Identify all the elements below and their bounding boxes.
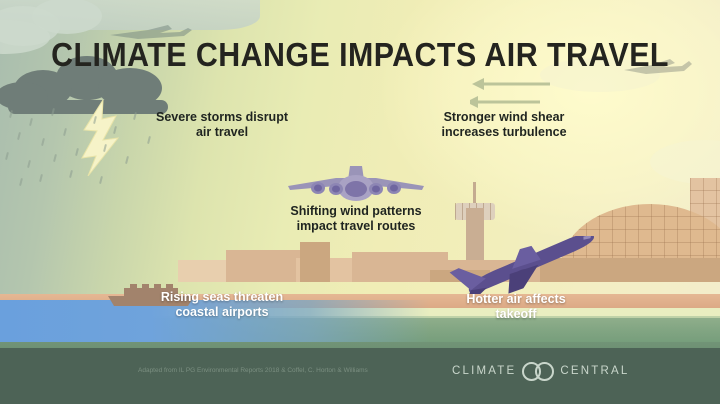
footer-bar: Adapted from IL PG Environmental Reports… [0,348,720,404]
logo-text-right: CENTRAL [560,365,629,377]
infographic-canvas: CLIMATE CHANGE IMPACTS AIR TRAVEL [0,0,720,404]
building [226,250,306,282]
page-title: CLIMATE CHANGE IMPACTS AIR TRAVEL [29,36,691,74]
logo-text-left: CLIMATE [452,365,516,377]
label-wind-shear: Stronger wind shear increases turbulence [418,110,590,140]
building [178,260,232,282]
label-severe-storms: Severe storms disrupt air travel [138,110,306,140]
wind-arrow-icon [470,74,590,110]
climate-central-rings-icon [522,362,554,381]
label-rising-seas: Rising seas threaten coastal airports [136,290,308,320]
label-hotter-air: Hotter air affects takeoff [432,292,600,322]
credit-text: Adapted from IL PG Environmental Reports… [138,366,438,375]
airplane-front-icon [284,164,428,208]
label-wind-patterns: Shifting wind patterns impact travel rou… [268,204,444,234]
building [300,242,330,282]
climate-central-logo[interactable]: CLIMATE CENTRAL [452,362,629,380]
airplane-takeoff-icon [446,236,606,294]
